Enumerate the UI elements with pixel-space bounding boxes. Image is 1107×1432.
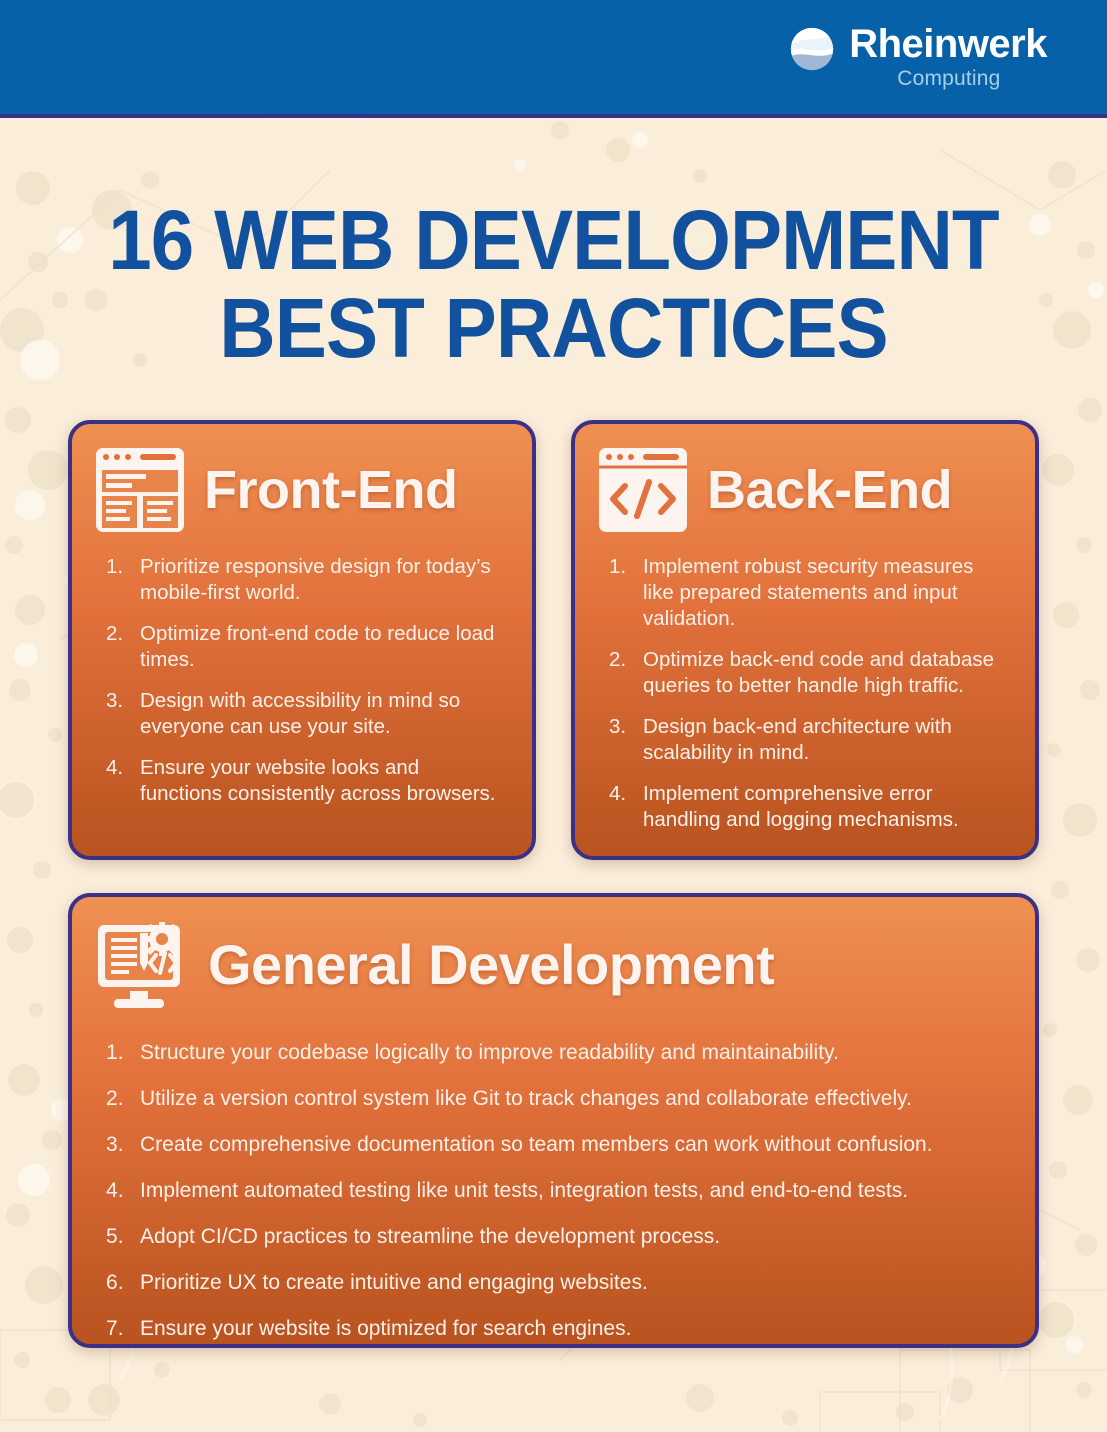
list-item: Structure your codebase logically to imp… xyxy=(106,1039,1005,1066)
card-back-end: Back-End Implement robust security measu… xyxy=(571,420,1039,860)
rheinwerk-wave-circle-icon xyxy=(789,26,835,72)
monitor-gear-code-icon xyxy=(94,919,190,1011)
card-list: Structure your codebase logically to imp… xyxy=(72,1017,1035,1348)
list-item: Optimize front-end code to reduce load t… xyxy=(106,621,506,673)
page-title-line-2: BEST PRACTICES xyxy=(39,284,1069,372)
header-bar: Rheinwerk Computing xyxy=(0,0,1107,118)
list-item: Implement robust security measures like … xyxy=(609,554,1009,632)
list-item: Implement automated testing like unit te… xyxy=(106,1177,1005,1204)
card-title: General Development xyxy=(208,935,774,995)
list-item: Design back-end architecture with scalab… xyxy=(609,714,1009,766)
list-item: Design with accessibility in mind so eve… xyxy=(106,688,506,740)
list-item: Utilize a version control system like Gi… xyxy=(106,1085,1005,1112)
card-front-end: Front-End Prioritize responsive design f… xyxy=(68,420,536,860)
card-list: Implement robust security measures like … xyxy=(575,540,1035,833)
list-item: Adopt CI/CD practices to streamline the … xyxy=(106,1223,1005,1250)
card-general-development: General Development Structure your codeb… xyxy=(68,893,1039,1348)
brand-sub: Computing xyxy=(897,66,1000,92)
card-title: Back-End xyxy=(707,460,952,520)
list-item: Optimize back-end code and database quer… xyxy=(609,647,1009,699)
card-header: General Development xyxy=(72,897,1035,1017)
list-item: Implement comprehensive error handling a… xyxy=(609,781,1009,833)
browser-layout-icon xyxy=(94,446,186,534)
list-item: Create comprehensive documentation so te… xyxy=(106,1131,1005,1158)
list-item: Ensure your website is optimized for sea… xyxy=(106,1315,1005,1342)
card-title: Front-End xyxy=(204,460,457,520)
brand-logo: Rheinwerk Computing xyxy=(789,22,1047,92)
browser-code-icon xyxy=(597,446,689,534)
list-item: Ensure your website looks and functions … xyxy=(106,755,506,807)
card-header: Back-End xyxy=(575,424,1035,540)
list-item: Prioritize responsive design for today’s… xyxy=(106,554,506,606)
brand-name: Rheinwerk xyxy=(849,22,1047,66)
card-list: Prioritize responsive design for today’s… xyxy=(72,540,532,807)
list-item: Prioritize UX to create intuitive and en… xyxy=(106,1269,1005,1296)
card-header: Front-End xyxy=(72,424,532,540)
page-title: 16 WEB DEVELOPMENT BEST PRACTICES xyxy=(39,196,1069,372)
page-title-line-1: 16 WEB DEVELOPMENT xyxy=(39,196,1069,284)
